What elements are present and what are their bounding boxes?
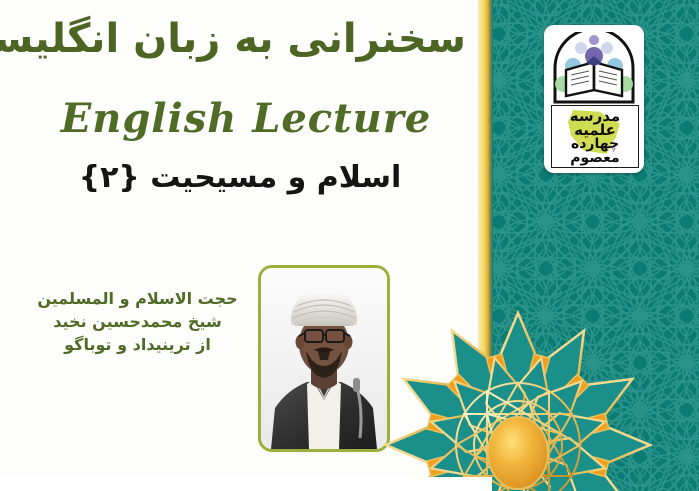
open-book-arch-icon [551, 32, 637, 104]
speaker-portrait-image [261, 268, 387, 449]
logo-line-5: «علیهم السلام» [552, 165, 638, 168]
madrasa-logo-card: مدرسه علمیه چهارده معصوم «علیهم السلام» [544, 25, 644, 173]
speaker-honorific: حجت الاسلام و المسلمین [30, 287, 245, 310]
gold-stripe-edge [489, 0, 493, 491]
page-title-persian: سخنرانی به زبان انگلیسی [26, 16, 466, 62]
speaker-photo-frame [258, 265, 390, 452]
speaker-name: شیخ محمدحسین نخید [30, 310, 245, 333]
speaker-info-block: حجت الاسلام و المسلمین شیخ محمدحسین نخید… [30, 287, 245, 357]
page-title-english: English Lecture [26, 95, 466, 142]
logo-line-4: معصوم [552, 151, 638, 165]
footer-cutoff-text: ــــــــــ [120, 487, 400, 491]
madrasa-logo-textbox: مدرسه علمیه چهارده معصوم «علیهم السلام» [551, 105, 639, 168]
speaker-portrait [261, 268, 387, 449]
logo-line-3: چهارده [552, 137, 638, 151]
madrasa-logo-lines: مدرسه علمیه چهارده معصوم «علیهم السلام» [552, 106, 638, 167]
page-subtitle-persian: اسلام و مسیحیت {۲} [40, 160, 440, 195]
poster-canvas: سخنرانی به زبان انگلیسی English Lecture … [0, 0, 699, 491]
speaker-origin: از ترینیداد و توباگو [30, 333, 245, 356]
logo-line-2: علمیه [552, 123, 638, 137]
